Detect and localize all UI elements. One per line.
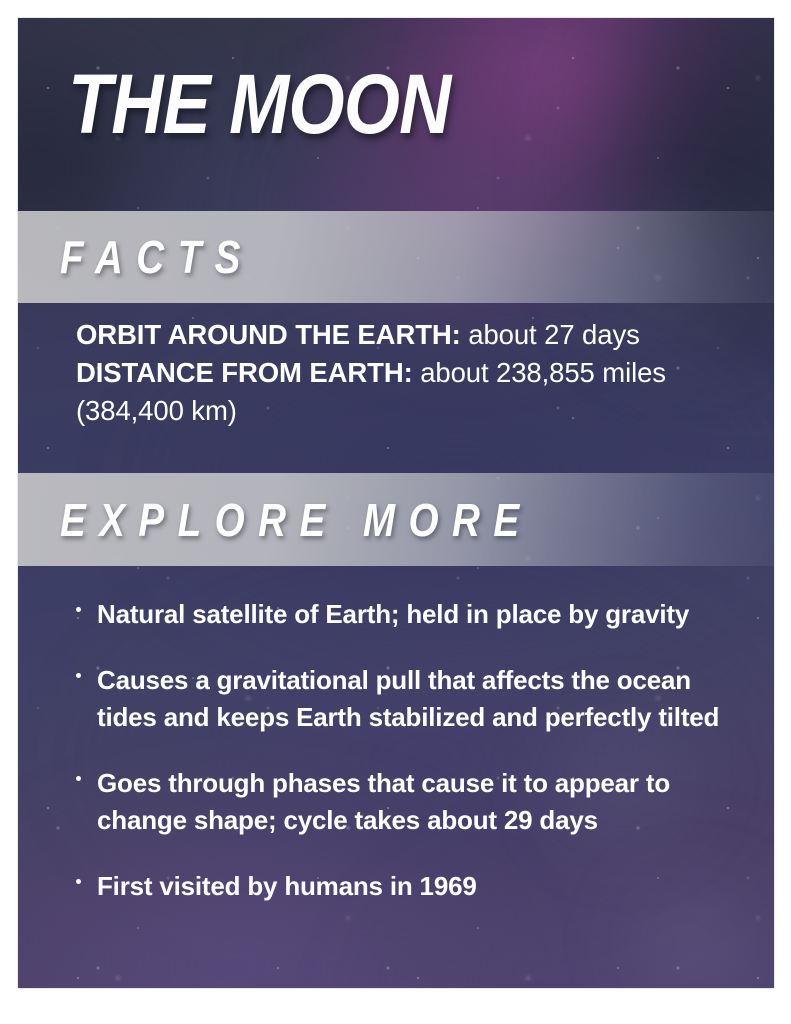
list-item-text: Natural satellite of Earth; held in plac… xyxy=(97,596,689,633)
list-item: Natural satellite of Earth; held in plac… xyxy=(76,596,736,633)
list-item: First visited by humans in 1969 xyxy=(76,868,736,905)
list-item-text: First visited by humans in 1969 xyxy=(97,868,477,905)
list-item: Goes through phases that cause it to app… xyxy=(76,765,736,839)
bullet-dot-icon xyxy=(76,765,97,781)
page-title: THE MOON xyxy=(68,62,450,146)
fact-label: DISTANCE FROM EARTH: xyxy=(76,357,413,388)
section-header-explore-more: EXPLORE MORE xyxy=(18,473,774,566)
bullet-dot-icon xyxy=(76,662,97,678)
fact-row: ORBIT AROUND THE EARTH: about 27 days xyxy=(76,316,766,354)
bullet-dot-icon xyxy=(76,868,97,884)
fact-row: DISTANCE FROM EARTH: about 238,855 miles… xyxy=(76,354,766,430)
section-header-facts-label: FACTS xyxy=(18,230,254,284)
fact-label: ORBIT AROUND THE EARTH: xyxy=(76,319,461,350)
section-header-explore-more-label: EXPLORE MORE xyxy=(18,493,533,547)
fact-value: about 27 days xyxy=(468,319,639,350)
list-item: Causes a gravitational pull that affects… xyxy=(76,662,736,736)
facts-list: ORBIT AROUND THE EARTH: about 27 days DI… xyxy=(76,316,766,430)
bullet-dot-icon xyxy=(76,596,97,612)
poster-content: THE MOON FACTS ORBIT AROUND THE EARTH: a… xyxy=(18,18,774,988)
list-item-text: Goes through phases that cause it to app… xyxy=(97,765,736,839)
list-item-text: Causes a gravitational pull that affects… xyxy=(97,662,736,736)
explore-more-list: Natural satellite of Earth; held in plac… xyxy=(76,596,736,933)
section-header-facts: FACTS xyxy=(18,211,774,303)
moon-infographic-poster: THE MOON FACTS ORBIT AROUND THE EARTH: a… xyxy=(18,18,774,988)
